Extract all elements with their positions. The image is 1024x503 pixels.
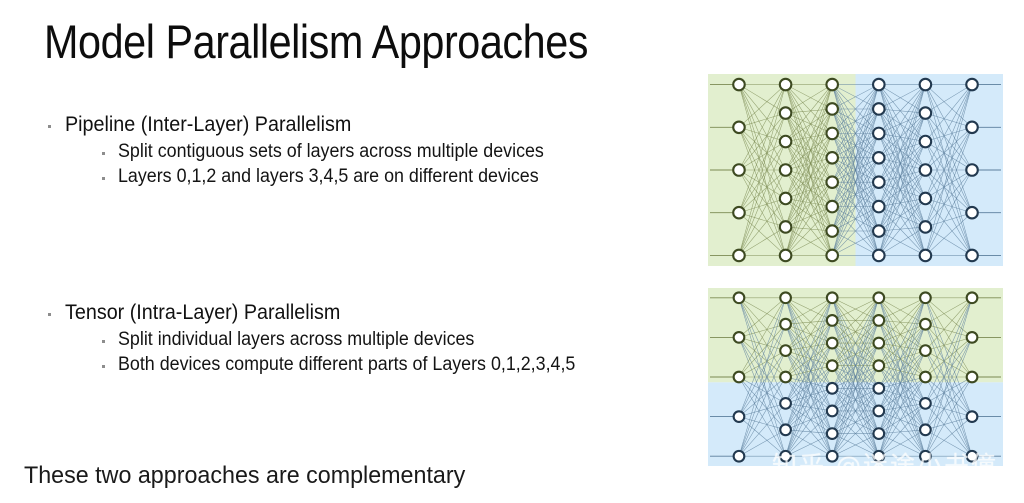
bullet-square-icon <box>102 340 105 343</box>
footer-note: These two approaches are complementary <box>24 462 465 490</box>
sub-bullet-label: Split contiguous sets of layers across m… <box>118 140 544 164</box>
sub-bullet-label: Layers 0,1,2 and layers 3,4,5 are on dif… <box>118 165 539 189</box>
bullet-block-tensor: Tensor (Intra-Layer) Parallelism Split i… <box>48 300 605 377</box>
bullet-square-icon <box>48 313 51 316</box>
bullet-square-icon <box>48 125 51 128</box>
sub-bullet-label: Split individual layers across multiple … <box>118 328 474 352</box>
bullet-square-icon <box>102 152 105 155</box>
bullet-heading-tensor: Tensor (Intra-Layer) Parallelism <box>48 300 605 326</box>
page-title: Model Parallelism Approaches <box>44 14 588 69</box>
sub-bullet: Both devices compute different parts of … <box>102 353 605 377</box>
slide-canvas: Model Parallelism Approaches Pipeline (I… <box>0 0 1024 503</box>
sub-bullet: Split individual layers across multiple … <box>102 328 605 352</box>
pipeline-parallelism-diagram <box>708 74 1003 266</box>
bullet-heading-label: Tensor (Intra-Layer) Parallelism <box>65 300 340 326</box>
bullet-square-icon <box>102 365 105 368</box>
tensor-parallelism-diagram <box>708 288 1003 466</box>
bullet-heading-pipeline: Pipeline (Inter-Layer) Parallelism <box>48 112 571 138</box>
sub-bullet-label: Both devices compute different parts of … <box>118 353 575 377</box>
bullet-block-pipeline: Pipeline (Inter-Layer) Parallelism Split… <box>48 112 571 189</box>
bullet-square-icon <box>102 177 105 180</box>
sub-bullet: Split contiguous sets of layers across m… <box>102 140 571 164</box>
bullet-heading-label: Pipeline (Inter-Layer) Parallelism <box>65 112 351 138</box>
sub-bullet: Layers 0,1,2 and layers 3,4,5 are on dif… <box>102 165 571 189</box>
